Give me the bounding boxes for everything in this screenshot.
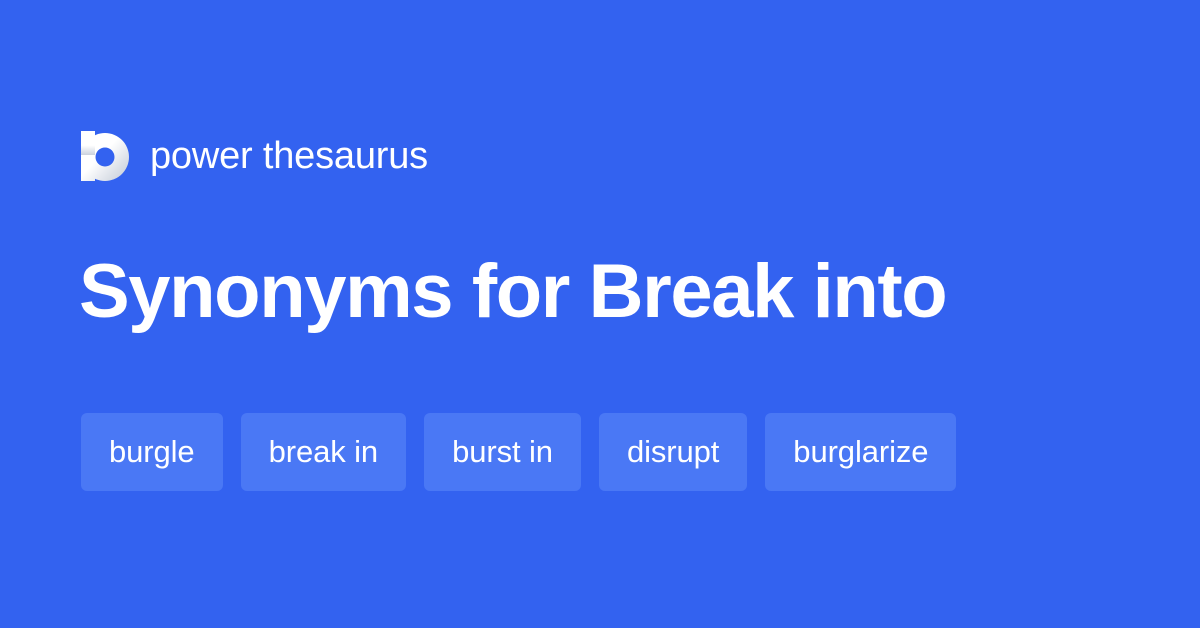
synonym-chip[interactable]: burgle — [81, 413, 223, 491]
open-graph-card: power thesaurus Synonyms for Break into … — [0, 0, 1200, 628]
page-title: Synonyms for Break into — [79, 246, 946, 338]
brand-name: power thesaurus — [150, 131, 428, 181]
synonym-chip[interactable]: break in — [241, 413, 407, 491]
synonym-chip[interactable]: disrupt — [599, 413, 747, 491]
power-thesaurus-b-logo-icon — [81, 131, 129, 181]
synonym-chip[interactable]: burst in — [424, 413, 581, 491]
brand-lockup[interactable]: power thesaurus — [81, 128, 428, 184]
synonym-chip[interactable]: burglarize — [765, 413, 956, 491]
synonym-chip-row: burgle break in burst in disrupt burglar… — [81, 413, 956, 491]
